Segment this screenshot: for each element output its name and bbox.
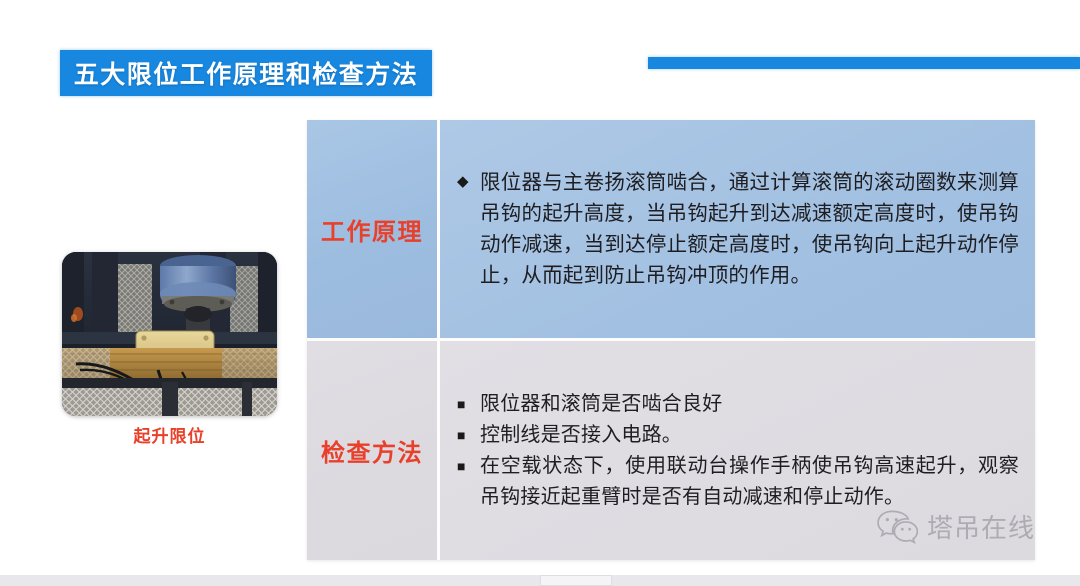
square-bullet-icon: ■ bbox=[454, 451, 480, 482]
hoist-limiter-photo-illustration bbox=[62, 252, 277, 416]
photo-frame bbox=[62, 252, 277, 416]
square-bullet-icon: ■ bbox=[454, 420, 480, 451]
row-label-inspection-method: 检查方法 bbox=[307, 341, 440, 560]
row-label-text: 工作原理 bbox=[321, 212, 423, 247]
bullet-text: 限位器和滚筒是否啮合良好 bbox=[480, 389, 1019, 420]
watermark: 塔吊在线 bbox=[876, 508, 1035, 545]
list-item: ■ 在空载状态下，使用联动台操作手柄使吊钩高速起升，观察吊钩接近起重臂时是否有自… bbox=[454, 451, 1019, 513]
page-title: 五大限位工作原理和检查方法 bbox=[74, 55, 419, 91]
bullet-list-working-principle: ◆ 限位器与主卷扬滚筒啮合，通过计算滚筒的滚动圈数来测算吊钩的起升高度，当吊钩起… bbox=[454, 167, 1019, 291]
bottom-scroll-indicator[interactable] bbox=[540, 575, 612, 586]
photo-caption: 起升限位 bbox=[62, 422, 277, 447]
list-item: ■ 控制线是否接入电路。 bbox=[454, 420, 1019, 451]
table-row-working-principle: 工作原理 ◆ 限位器与主卷扬滚筒啮合，通过计算滚筒的滚动圈数来测算吊钩的起升高度… bbox=[307, 120, 1035, 341]
bullet-text: 控制线是否接入电路。 bbox=[480, 420, 1019, 451]
bullet-text: 在空载状态下，使用联动台操作手柄使吊钩高速起升，观察吊钩接近起重臂时是否有自动减… bbox=[480, 451, 1019, 513]
row-label-text: 检查方法 bbox=[321, 433, 423, 468]
principle-method-table: 工作原理 ◆ 限位器与主卷扬滚筒啮合，通过计算滚筒的滚动圈数来测算吊钩的起升高度… bbox=[307, 120, 1035, 560]
square-bullet-icon: ■ bbox=[454, 389, 480, 420]
diamond-bullet-icon: ◆ bbox=[454, 167, 480, 197]
row-content-working-principle: ◆ 限位器与主卷扬滚筒啮合，通过计算滚筒的滚动圈数来测算吊钩的起升高度，当吊钩起… bbox=[440, 120, 1035, 338]
watermark-text: 塔吊在线 bbox=[927, 508, 1035, 545]
bullet-list-inspection-method: ■ 限位器和滚筒是否啮合良好 ■ 控制线是否接入电路。 ■ 在空载状态下，使用联… bbox=[454, 389, 1019, 513]
slide-title-banner: 五大限位工作原理和检查方法 bbox=[60, 50, 432, 96]
row-label-working-principle: 工作原理 bbox=[307, 120, 440, 338]
list-item: ■ 限位器和滚筒是否啮合良好 bbox=[454, 389, 1019, 420]
bullet-text: 限位器与主卷扬滚筒啮合，通过计算滚筒的滚动圈数来测算吊钩的起升高度，当吊钩起升到… bbox=[480, 167, 1019, 291]
wechat-icon bbox=[876, 509, 918, 545]
header-accent-bar bbox=[648, 57, 1080, 69]
equipment-photo bbox=[62, 252, 277, 416]
list-item: ◆ 限位器与主卷扬滚筒啮合，通过计算滚筒的滚动圈数来测算吊钩的起升高度，当吊钩起… bbox=[454, 167, 1019, 291]
slide-canvas: 五大限位工作原理和检查方法 bbox=[0, 0, 1080, 586]
